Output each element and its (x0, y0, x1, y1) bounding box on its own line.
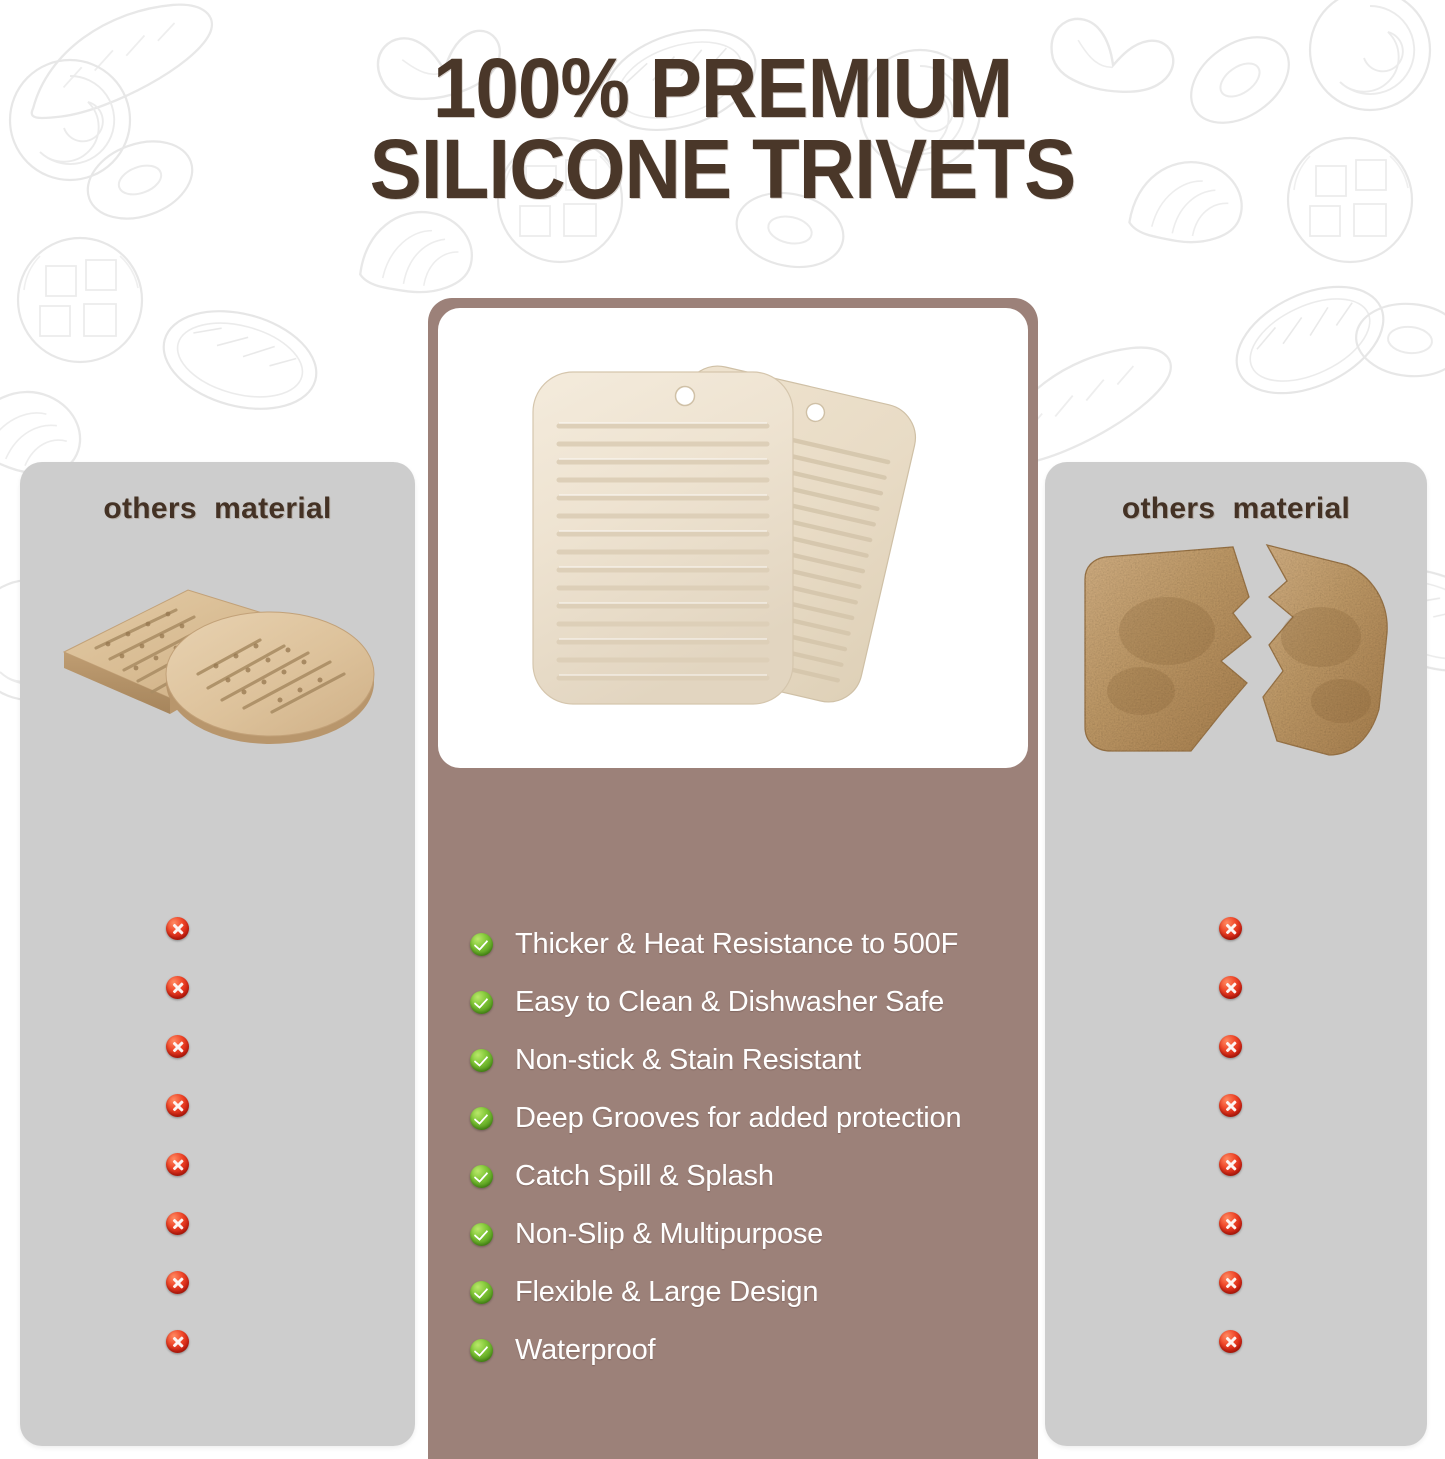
feature-list: Thicker & Heat Resistance to 500F Easy t… (470, 915, 1030, 1379)
right-panel-marks (1219, 917, 1242, 1353)
list-item: Non-stick & Stain Resistant (470, 1031, 1030, 1089)
wooden-bamboo-trivets-image (20, 534, 415, 804)
cross-icon (1219, 1330, 1242, 1353)
right-others-panel: others material (1045, 462, 1427, 1446)
check-icon (470, 991, 493, 1014)
list-item: Non-Slip & Multipurpose (470, 1205, 1030, 1263)
list-item: Waterproof (470, 1321, 1030, 1379)
feature-label: Catch Spill & Splash (515, 1162, 774, 1191)
feature-label: Flexible & Large Design (515, 1278, 818, 1307)
cross-icon (1219, 1153, 1242, 1176)
check-icon (470, 1223, 493, 1246)
cross-icon (166, 1094, 189, 1117)
check-icon (470, 1339, 493, 1362)
check-icon (470, 1165, 493, 1188)
cross-icon (166, 1212, 189, 1235)
feature-label: Non-Slip & Multipurpose (515, 1220, 823, 1249)
list-item: Thicker & Heat Resistance to 500F (470, 915, 1030, 973)
feature-label: Easy to Clean & Dishwasher Safe (515, 988, 944, 1017)
cross-icon (166, 1035, 189, 1058)
left-others-panel: others material (20, 462, 415, 1446)
two-ribbed-silicone-trivets (473, 338, 993, 738)
product-image-card (438, 308, 1028, 768)
left-panel-marks (166, 917, 189, 1353)
broken-cork-trivet-image (1045, 518, 1427, 788)
title-line-1: 100% PREMIUM (51, 48, 1395, 129)
left-panel-heading: others material (20, 492, 415, 526)
cross-icon (1219, 1271, 1242, 1294)
cross-icon (166, 976, 189, 999)
check-icon (470, 1281, 493, 1304)
cross-icon (1219, 1212, 1242, 1235)
feature-label: Waterproof (515, 1336, 655, 1365)
cross-icon (166, 917, 189, 940)
feature-label: Deep Grooves for added protection (515, 1104, 961, 1133)
cross-icon (1219, 976, 1242, 999)
list-item: Deep Grooves for added protection (470, 1089, 1030, 1147)
cross-icon (1219, 1035, 1242, 1058)
cross-icon (166, 1330, 189, 1353)
list-item: Flexible & Large Design (470, 1263, 1030, 1321)
cross-icon (1219, 1094, 1242, 1117)
cross-icon (166, 1271, 189, 1294)
list-item: Catch Spill & Splash (470, 1147, 1030, 1205)
page-title: 100% PREMIUM SILICONE TRIVETS (0, 48, 1445, 211)
check-icon (470, 933, 493, 956)
infographic-page: 100% PREMIUM SILICONE TRIVETS others mat… (0, 0, 1445, 1459)
center-product-panel: Thicker & Heat Resistance to 500F Easy t… (428, 298, 1038, 1459)
cross-icon (1219, 917, 1242, 940)
check-icon (470, 1107, 493, 1130)
feature-label: Non-stick & Stain Resistant (515, 1046, 861, 1075)
check-icon (470, 1049, 493, 1072)
feature-label: Thicker & Heat Resistance to 500F (515, 930, 958, 959)
title-line-2: SILICONE TRIVETS (51, 129, 1395, 210)
cross-icon (166, 1153, 189, 1176)
list-item: Easy to Clean & Dishwasher Safe (470, 973, 1030, 1031)
